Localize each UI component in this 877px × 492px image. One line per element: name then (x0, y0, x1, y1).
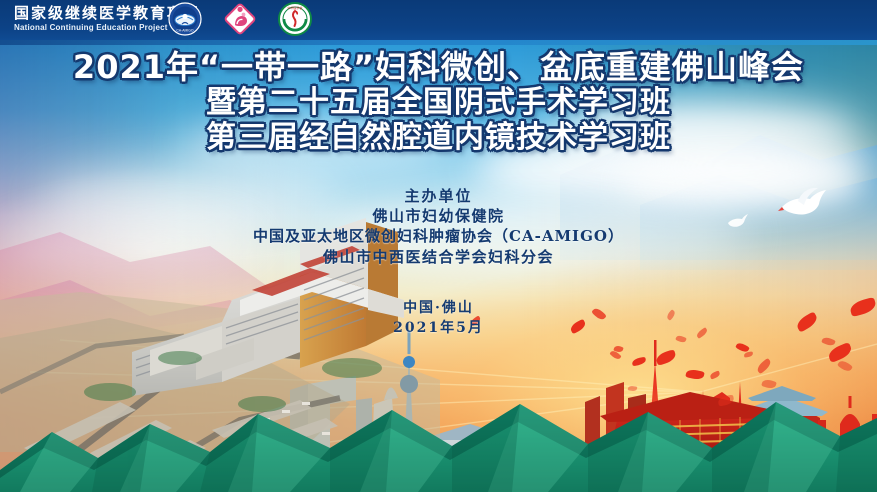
event-meta-block: 中国·佛山 2021年5月 (0, 298, 877, 338)
conference-poster: 国家级继续医学教育项目 National Continuing Educatio… (0, 0, 877, 492)
ca-amigo-logo-icon: CA-AMIGO (168, 2, 202, 36)
organizer-line-1: 佛山市妇幼保健院 (0, 206, 877, 226)
medical-association-logo-icon: 中华医学会 (278, 2, 312, 36)
svg-text:中华医学会: 中华医学会 (287, 5, 302, 10)
organizers-heading: 主办单位 (0, 186, 877, 206)
chinese-archway (738, 386, 828, 444)
title-line-1: 2021年“一带一路”妇科微创、盆底重建佛山峰会 (0, 49, 877, 85)
old-town-roofs (432, 424, 582, 452)
maternal-child-health-logo-icon (224, 3, 256, 35)
event-date: 2021年5月 (0, 318, 877, 338)
red-skyline-silhouette (585, 340, 877, 452)
svg-text:CA-AMIGO: CA-AMIGO (176, 29, 194, 33)
organizers-block: 主办单位 佛山市妇幼保健院 中国及亚太地区微创妇科肿瘤协会（CA-AMIGO） … (0, 186, 877, 268)
topbar-accent-stripe (0, 40, 877, 45)
organizer-line-2: 中国及亚太地区微创妇科肿瘤协会（CA-AMIGO） (0, 226, 877, 247)
logo-group: CA-AMIGO 中华医学会 (168, 2, 312, 36)
event-location: 中国·佛山 (0, 298, 877, 318)
city-skyline-right (805, 400, 877, 452)
stone-monument (372, 387, 398, 452)
title-line-2: 暨第二十五届全国阴式手术学习班 (0, 85, 877, 120)
china-pavilion (600, 392, 782, 452)
cctv-headquarters (290, 376, 372, 452)
topbar: 国家级继续医学教育项目 National Continuing Educatio… (0, 0, 877, 40)
green-polygon-mountains (0, 402, 877, 492)
poster-title: 2021年“一带一路”妇科微创、盆底重建佛山峰会 暨第二十五届全国阴式手术学习班… (0, 49, 877, 155)
title-line-3: 第三届经自然腔道内镜技术学习班 (0, 120, 877, 155)
organizer-line-3: 佛山市中西医结合学会妇科分会 (0, 247, 877, 268)
observation-tower (400, 330, 418, 452)
